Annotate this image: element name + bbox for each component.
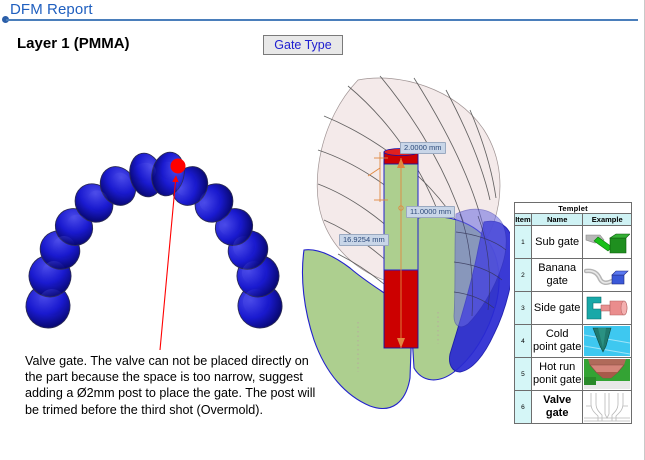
column-header-example: Example — [583, 214, 632, 226]
row-gate-name: Sub gate — [531, 226, 583, 259]
sub-gate-example-icon — [583, 226, 632, 259]
header-divider — [6, 19, 638, 21]
valve-gate-example-icon — [583, 391, 632, 424]
dimension-label-middle: 11.0000 mm — [406, 206, 455, 218]
row-gate-name: Banana gate — [531, 259, 583, 292]
dental-arch-render — [18, 130, 293, 350]
table-row[interactable]: 3 Side gate — [515, 292, 632, 325]
row-gate-name: Cold point gate — [531, 325, 583, 358]
dimension-label-top: 2.0000 mm — [400, 142, 446, 154]
row-item-number: 4 — [515, 325, 532, 358]
table-row[interactable]: 5 Hot run ponit gate — [515, 358, 632, 391]
table-row[interactable]: 2 Banana gate — [515, 259, 632, 292]
table-row[interactable]: 4 Cold point gate — [515, 325, 632, 358]
column-header-name: Name — [531, 214, 583, 226]
dental-arch-viewport[interactable] — [18, 130, 293, 350]
row-item-number: 2 — [515, 259, 532, 292]
cad-viewport[interactable] — [288, 72, 510, 412]
banana-gate-example-icon — [583, 259, 632, 292]
page-title: DFM Report — [10, 1, 93, 18]
row-gate-name: Valve gate — [531, 391, 583, 424]
row-item-number: 3 — [515, 292, 532, 325]
gate-location-marker — [171, 159, 186, 174]
annotation-caption: Valve gate. The valve can not be placed … — [25, 353, 325, 418]
hot-runner-gate-example-icon — [583, 358, 632, 391]
table-row[interactable]: 6 Valve gate — [515, 391, 632, 424]
templet-table-header-row: Item Name Example — [515, 214, 632, 226]
dfm-report-page: DFM Report Layer 1 (PMMA) Gate Type — [0, 0, 645, 460]
dimension-label-bottom: 16.9254 mm — [339, 234, 389, 246]
row-gate-name: Hot run ponit gate — [531, 358, 583, 391]
row-item-number: 5 — [515, 358, 532, 391]
cad-render — [288, 72, 510, 412]
cold-point-gate-example-icon — [583, 325, 632, 358]
row-gate-name: Side gate — [531, 292, 583, 325]
row-item-number: 1 — [515, 226, 532, 259]
side-gate-example-icon — [583, 292, 632, 325]
gate-type-button[interactable]: Gate Type — [263, 35, 343, 55]
column-header-item: Item — [515, 214, 532, 226]
templet-table-title: Templet — [515, 203, 632, 214]
templet-table: Templet Item Name Example 1 Sub gate — [514, 202, 632, 424]
row-item-number: 6 — [515, 391, 532, 424]
table-row[interactable]: 1 Sub gate — [515, 226, 632, 259]
layer-title: Layer 1 (PMMA) — [17, 35, 130, 52]
templet-table-title-row: Templet — [515, 203, 632, 214]
